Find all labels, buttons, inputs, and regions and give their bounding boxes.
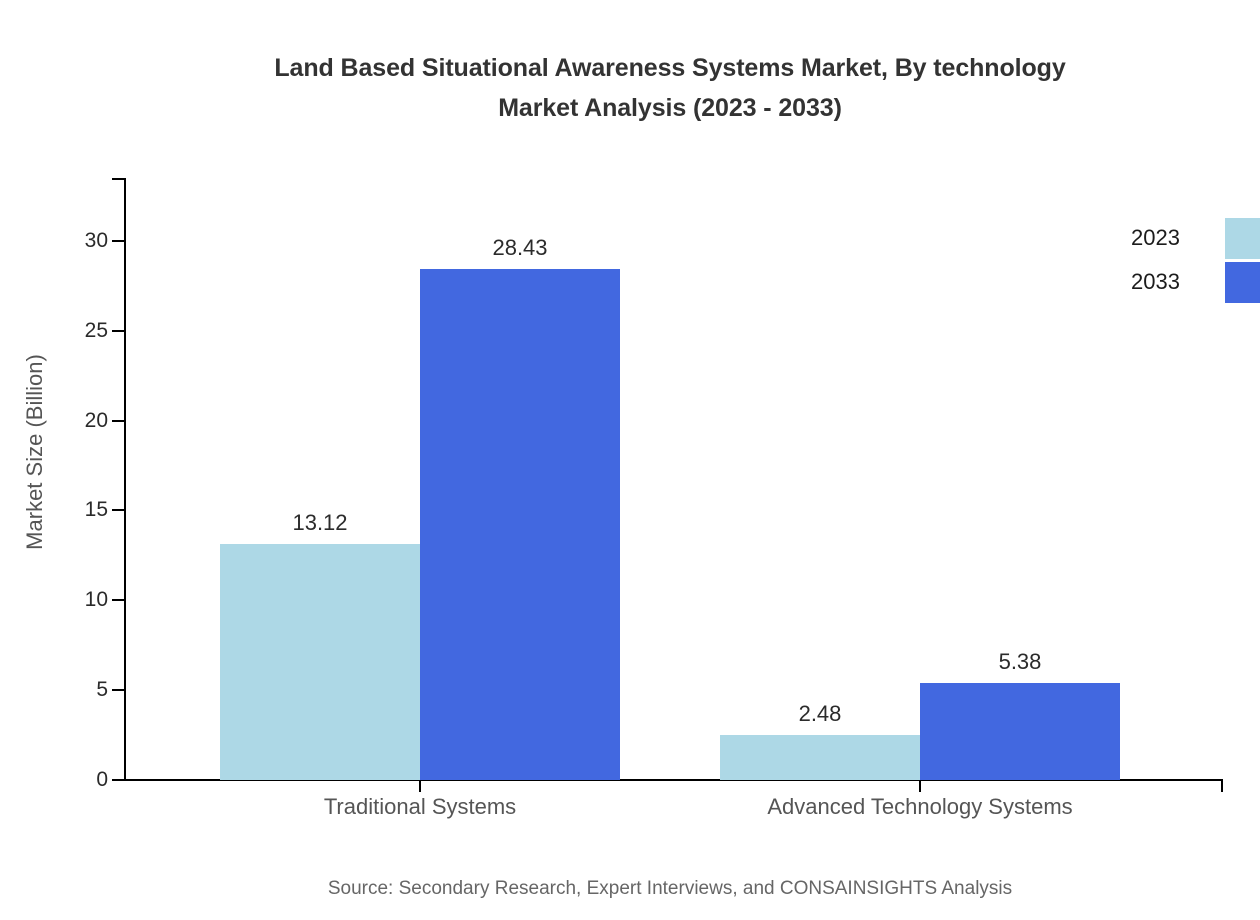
bar-value-label: 28.43 [420,237,620,259]
legend-label: 2033 [1060,271,1180,293]
bar-advanced-technology-systems-2023[interactable] [720,735,920,780]
x-tick-label: Advanced Technology Systems [670,793,1170,821]
y-axis-label: Market Size (Billion) [23,212,47,692]
bar-value-label: 2.48 [720,703,920,725]
legend-item-2023[interactable]: 2023 [1120,218,1260,260]
x-tick-mark [919,781,921,792]
y-tick-label: 25 [18,320,108,341]
x-axis-right-cap [1221,779,1223,792]
y-tick-label: 15 [18,499,108,520]
y-tick-label: 5 [18,679,108,700]
source-note: Source: Secondary Research, Expert Inter… [0,877,1260,901]
bar-value-label: 5.38 [920,651,1120,673]
legend-swatch [1225,262,1260,303]
chart-title: Land Based Situational Awareness Systems… [0,48,1260,128]
x-tick-mark [419,781,421,792]
legend-swatch [1225,218,1260,259]
y-tick-label: 0 [18,769,108,790]
bar-traditional-systems-2033[interactable] [420,269,620,780]
chart-title-line-1: Land Based Situational Awareness Systems… [274,54,1065,82]
legend-item-2033[interactable]: 2033 [1120,262,1260,304]
chart-title-line-2: Market Analysis (2023 - 2033) [498,94,842,122]
plot-area [124,178,1222,780]
legend-label: 2023 [1060,227,1180,249]
bar-traditional-systems-2023[interactable] [220,544,420,780]
chart-figure: Land Based Situational Awareness Systems… [0,0,1260,920]
bar-value-label: 13.12 [220,512,420,534]
chart-legend: 20232033 [1120,218,1260,306]
x-tick-label: Traditional Systems [170,793,670,821]
y-tick-label: 20 [18,410,108,431]
y-tick-label: 30 [18,230,108,251]
y-tick-label: 10 [18,589,108,610]
bar-advanced-technology-systems-2033[interactable] [920,683,1120,780]
